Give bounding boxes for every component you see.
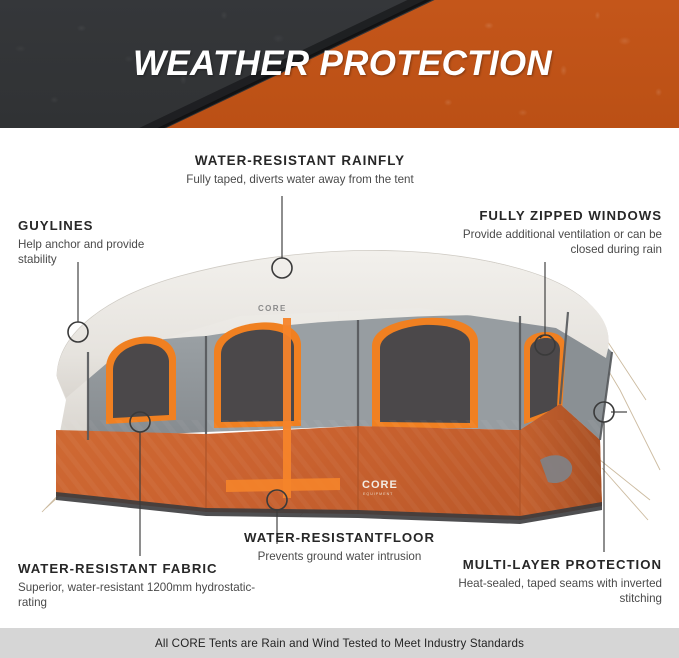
callout-rainfly-subtitle: Fully taped, diverts water away from the…	[155, 172, 445, 187]
svg-text:EQUIPMENT: EQUIPMENT	[363, 492, 393, 496]
door-zipper-horizontal	[226, 478, 340, 492]
marker-floor	[267, 490, 287, 510]
callout-guylines-subtitle: Help anchor and provide stability	[18, 237, 168, 268]
callout-multi-layer-protection: MULTI-LAYER PROTECTION Heat-sealed, tape…	[440, 557, 662, 606]
tent-body-orange	[56, 404, 602, 520]
marker-windows	[535, 335, 555, 355]
vent-patch	[540, 455, 572, 483]
brand-logo-rainfly: CORE	[258, 304, 287, 313]
window-mesh-2	[221, 330, 294, 422]
callout-rainfly-title: WATER-RESISTANT RAINFLY	[155, 153, 445, 170]
tent-base-trim	[56, 492, 602, 524]
header-banner: WEATHER PROTECTION	[0, 0, 679, 128]
window-trim-1	[106, 336, 176, 424]
window-trim-4	[524, 332, 566, 424]
marker-multi-layer	[594, 402, 614, 422]
callout-floor-subtitle: Prevents ground water intrusion	[222, 549, 457, 564]
window-trim-3	[372, 318, 478, 428]
callout-windows-subtitle: Provide additional ventilation or can be…	[440, 227, 662, 258]
callout-markers	[68, 258, 614, 510]
callout-fully-zipped-windows: FULLY ZIPPED WINDOWS Provide additional …	[440, 208, 662, 257]
callout-guylines-title: GUYLINES	[18, 218, 168, 235]
window-trim-2	[214, 322, 301, 428]
callout-water-resistant-fabric: WATER-RESISTANT FABRIC Superior, water-r…	[18, 561, 268, 610]
tent-rainfly	[57, 250, 608, 392]
window-mesh-4	[530, 338, 560, 418]
door-zipper-vertical	[283, 318, 291, 498]
callout-fabric-subtitle: Superior, water-resistant 1200mm hydrost…	[18, 580, 268, 611]
marker-fabric	[130, 412, 150, 432]
callout-floor-title: WATER-RESISTANTFLOOR	[222, 530, 457, 547]
marker-rainfly	[272, 258, 292, 278]
footer-bar: All CORE Tents are Rain and Wind Tested …	[0, 628, 679, 658]
footer-text: All CORE Tents are Rain and Wind Tested …	[155, 637, 524, 650]
marker-guylines	[68, 322, 88, 342]
zipper-pull-icon	[540, 335, 552, 338]
window-mesh-1	[113, 344, 169, 418]
callout-multi-subtitle: Heat-sealed, taped seams with inverted s…	[440, 576, 662, 607]
window-mesh-3	[380, 325, 470, 423]
callout-guylines: GUYLINES Help anchor and provide stabili…	[18, 218, 168, 267]
svg-text:CORE: CORE	[362, 479, 398, 491]
page-title: WEATHER PROTECTION	[0, 0, 679, 128]
brand-logo-body: CORE EQUIPMENT	[362, 479, 398, 496]
callout-multi-title: MULTI-LAYER PROTECTION	[440, 557, 662, 574]
callout-rainfly: WATER-RESISTANT RAINFLY Fully taped, div…	[155, 153, 445, 187]
weather-protection-infographic: WEATHER PROTECTION	[0, 0, 679, 658]
callout-windows-title: FULLY ZIPPED WINDOWS	[440, 208, 662, 225]
callout-water-resistant-floor: WATER-RESISTANTFLOOR Prevents ground wat…	[222, 530, 457, 564]
